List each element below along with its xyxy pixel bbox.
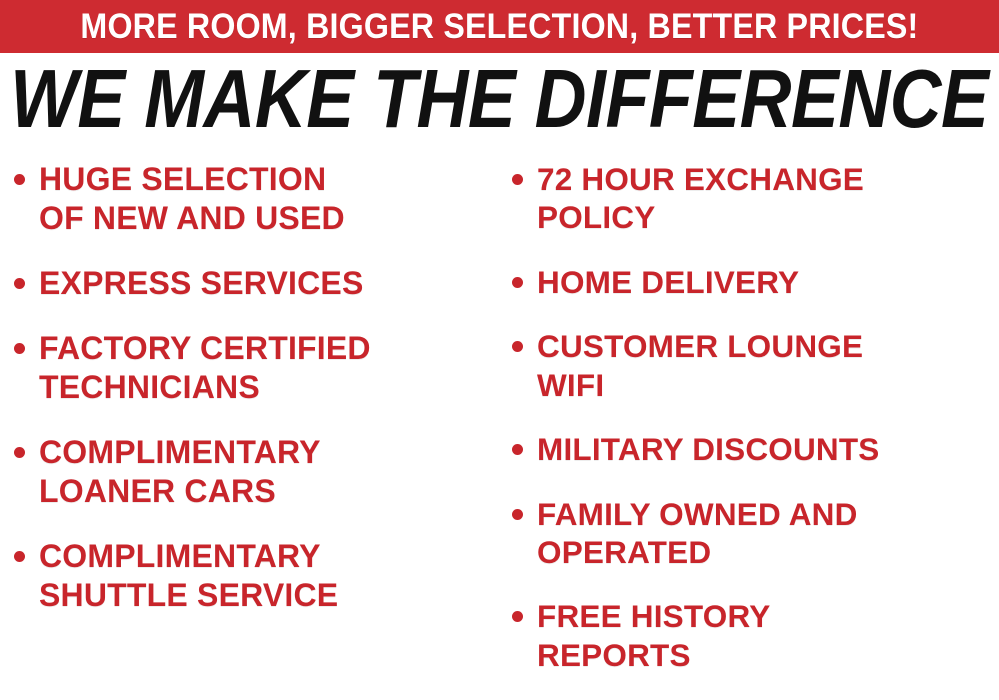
bullet-dot-icon	[14, 447, 25, 458]
headline-section: WE MAKE THE DIFFERENCE	[0, 58, 999, 140]
list-item: FACTORY CERTIFIED TECHNICIANS	[14, 329, 506, 407]
list-item: COMPLIMENTARY SHUTTLE SERVICE	[14, 537, 506, 615]
list-item: FAMILY OWNED AND OPERATED	[512, 495, 999, 572]
bullet-dot-icon	[512, 341, 523, 352]
list-item: MILITARY DISCOUNTS	[512, 430, 999, 468]
list-item: CUSTOMER LOUNGE WIFI	[512, 327, 999, 404]
list-item-label: MILITARY DISCOUNTS	[537, 430, 880, 468]
bullet-dot-icon	[512, 174, 523, 185]
bullet-dot-icon	[512, 509, 523, 520]
top-banner: MORE ROOM, BIGGER SELECTION, BETTER PRIC…	[0, 0, 999, 53]
bullet-dot-icon	[512, 611, 523, 622]
list-item: HUGE SELECTION OF NEW AND USED	[14, 160, 506, 238]
top-banner-text: MORE ROOM, BIGGER SELECTION, BETTER PRIC…	[80, 9, 918, 44]
bullet-dot-icon	[512, 444, 523, 455]
list-item-label: HUGE SELECTION OF NEW AND USED	[39, 160, 345, 238]
list-item-label: HOME DELIVERY	[537, 263, 799, 301]
list-item: 72 HOUR EXCHANGE POLICY	[512, 160, 999, 237]
list-item-label: EXPRESS SERVICES	[39, 264, 364, 303]
list-item-label: COMPLIMENTARY SHUTTLE SERVICE	[39, 537, 338, 615]
benefits-column-right: 72 HOUR EXCHANGE POLICY HOME DELIVERY CU…	[512, 160, 999, 700]
list-item-label: COMPLIMENTARY LOANER CARS	[39, 433, 321, 511]
list-item: HOME DELIVERY	[512, 263, 999, 301]
bullet-dot-icon	[14, 174, 25, 185]
page-title: WE MAKE THE DIFFERENCE	[10, 58, 988, 140]
list-item-label: FREE HISTORY REPORTS	[537, 597, 770, 674]
list-item: EXPRESS SERVICES	[14, 264, 506, 303]
list-item: COMPLIMENTARY LOANER CARS	[14, 433, 506, 511]
bullet-dot-icon	[14, 551, 25, 562]
list-item-label: FAMILY OWNED AND OPERATED	[537, 495, 858, 572]
list-item-label: FACTORY CERTIFIED TECHNICIANS	[39, 329, 371, 407]
benefits-column-left: HUGE SELECTION OF NEW AND USED EXPRESS S…	[14, 160, 506, 641]
list-item: FREE HISTORY REPORTS	[512, 597, 999, 674]
promo-poster: MORE ROOM, BIGGER SELECTION, BETTER PRIC…	[0, 0, 999, 692]
bullet-dot-icon	[512, 277, 523, 288]
list-item-label: CUSTOMER LOUNGE WIFI	[537, 327, 863, 404]
list-item-label: 72 HOUR EXCHANGE POLICY	[537, 160, 864, 237]
bullet-dot-icon	[14, 278, 25, 289]
bullet-dot-icon	[14, 343, 25, 354]
